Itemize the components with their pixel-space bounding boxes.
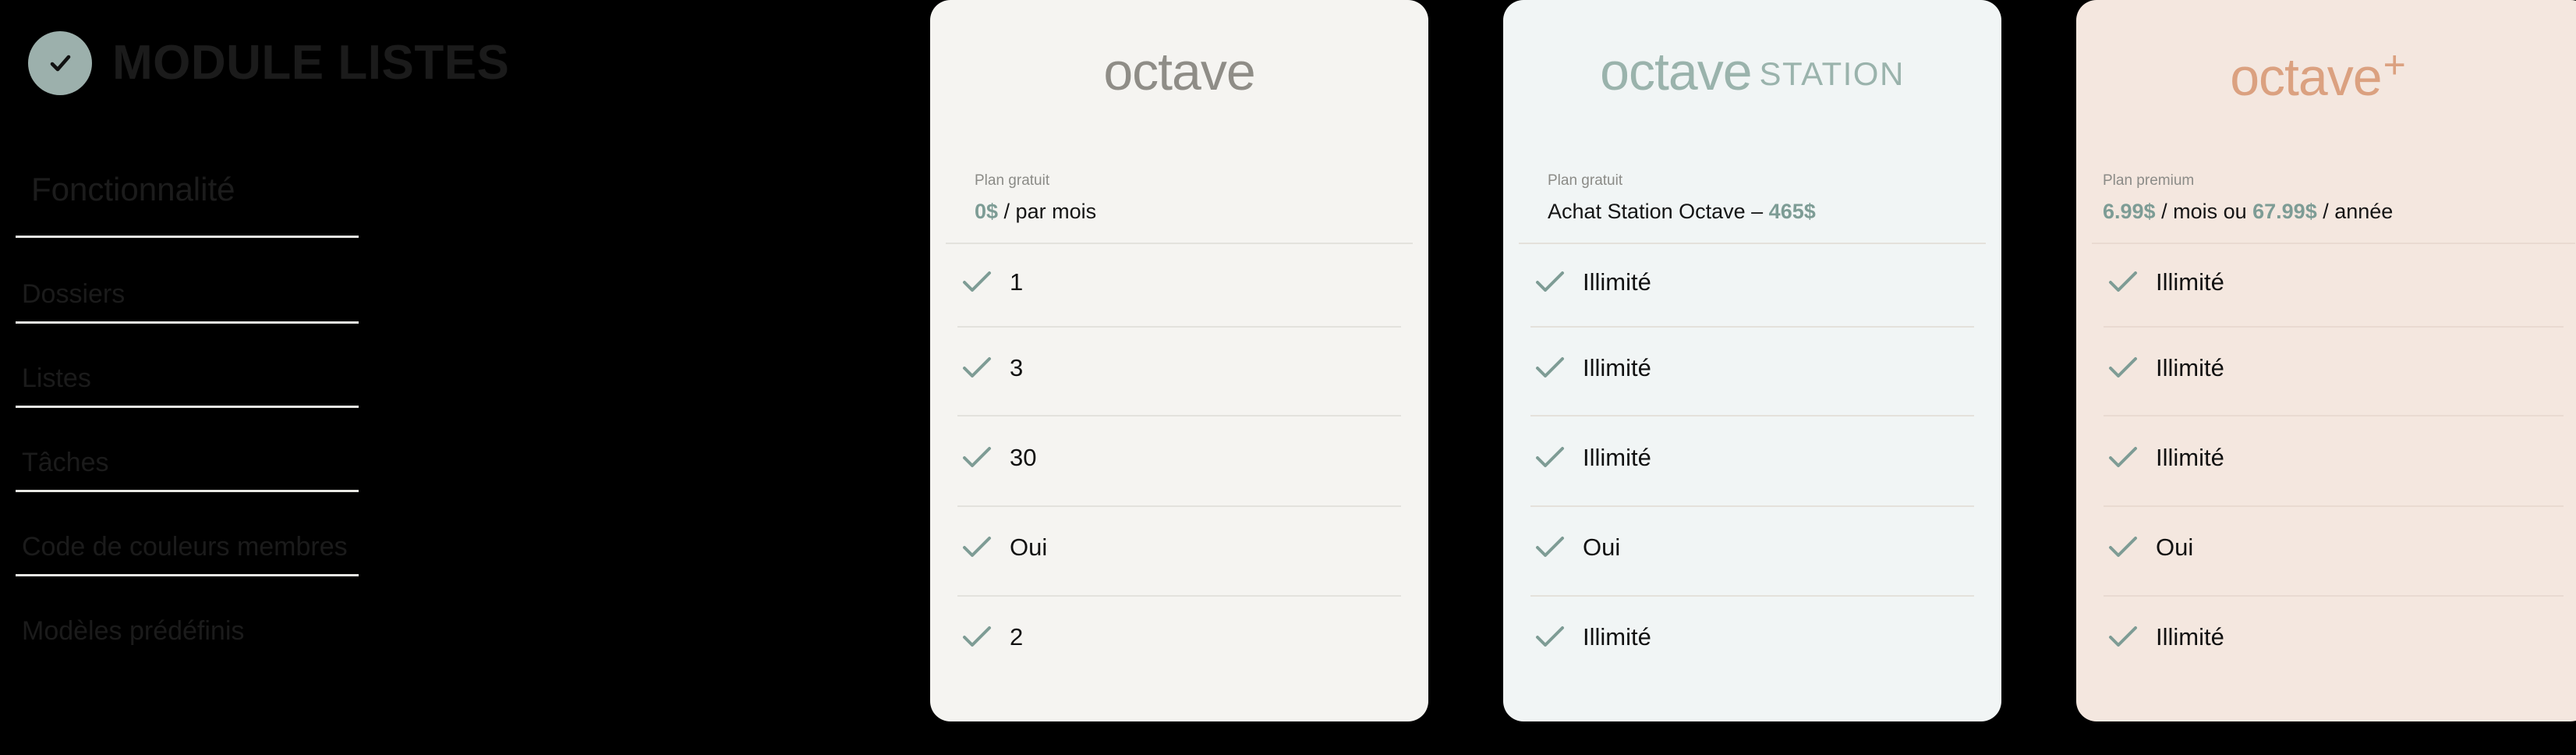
sidebar-divider-0 bbox=[16, 236, 359, 238]
price-amount: 0$ bbox=[975, 200, 998, 223]
card-value-row: Oui bbox=[2107, 534, 2193, 559]
pricing-card-octave-station[interactable]: octaveSTATION Plan gratuit Achat Station… bbox=[1503, 0, 2001, 721]
card-value-row: Illimité bbox=[1534, 269, 1651, 294]
tick-icon bbox=[2107, 534, 2139, 559]
sidebar-feature-taches: Tâches bbox=[22, 449, 109, 476]
card-value-row: Oui bbox=[961, 534, 1047, 559]
card-row-divider bbox=[957, 415, 1401, 416]
card-value-row: 30 bbox=[961, 445, 1036, 470]
tick-icon bbox=[2107, 445, 2139, 470]
sidebar-divider-3 bbox=[16, 490, 359, 492]
price-period: / par mois bbox=[998, 200, 1096, 223]
tick-icon bbox=[1534, 534, 1566, 559]
tick-icon bbox=[2107, 355, 2139, 380]
pricing-card-octave[interactable]: octave Plan gratuit 0$ / par mois 1 3 bbox=[930, 0, 1428, 721]
page-title: MODULE LISTES bbox=[112, 39, 509, 87]
card-value-row: Oui bbox=[1534, 534, 1620, 559]
octave-station-logo: octaveSTATION bbox=[1503, 45, 2001, 98]
tick-icon bbox=[2107, 269, 2139, 294]
card-value-row: 3 bbox=[961, 355, 1023, 380]
plan-label-octave: Plan gratuit bbox=[975, 173, 1049, 188]
tick-icon bbox=[961, 355, 993, 380]
plan-price-octave-station: Achat Station Octave – 465$ bbox=[1548, 201, 1816, 222]
module-header: MODULE LISTES bbox=[28, 31, 509, 95]
card-value-row: Illimité bbox=[2107, 624, 2224, 649]
sidebar-feature-modeles: Modèles prédéfinis bbox=[22, 618, 244, 644]
price-amount-yearly: 67.99$ bbox=[2252, 200, 2317, 223]
tick-icon bbox=[961, 269, 993, 294]
card-value-row: Illimité bbox=[2107, 269, 2224, 294]
card-row-divider bbox=[2104, 595, 2564, 597]
sidebar-divider-1 bbox=[16, 321, 359, 324]
card-row-divider bbox=[1530, 326, 1974, 328]
card-header-divider bbox=[2092, 243, 2575, 244]
check-circle-icon bbox=[28, 31, 92, 95]
card-row-divider bbox=[1530, 415, 1974, 416]
card-row-divider bbox=[957, 326, 1401, 328]
price-amount-monthly: 6.99$ bbox=[2103, 200, 2156, 223]
plan-label-octave-plus: Plan premium bbox=[2103, 173, 2194, 188]
features-sidebar: MODULE LISTES Fonctionnalité Dossiers Li… bbox=[0, 0, 764, 755]
card-row-divider bbox=[1530, 595, 1974, 597]
feature-column-header: Fonctionnalité bbox=[31, 173, 235, 206]
card-row-divider bbox=[957, 505, 1401, 507]
card-header-divider bbox=[946, 243, 1413, 244]
pricing-card-octave-plus[interactable]: octave+ Plan premium 6.99$ / mois ou 67.… bbox=[2076, 0, 2576, 721]
card-row-divider bbox=[2104, 505, 2564, 507]
sidebar-divider-4 bbox=[16, 574, 359, 576]
card-value-row: 1 bbox=[961, 269, 1023, 294]
octave-logo: octave bbox=[930, 45, 1428, 98]
tick-icon bbox=[961, 534, 993, 559]
card-value-row: Illimité bbox=[1534, 355, 1651, 380]
tick-icon bbox=[1534, 624, 1566, 649]
card-row-divider bbox=[1530, 505, 1974, 507]
card-row-divider bbox=[2104, 415, 2564, 416]
comparison-page: MODULE LISTES Fonctionnalité Dossiers Li… bbox=[0, 0, 2576, 755]
card-value-row: Illimité bbox=[2107, 445, 2224, 470]
octave-plus-logo: octave+ bbox=[2076, 45, 2560, 104]
card-row-divider bbox=[957, 595, 1401, 597]
card-row-divider bbox=[2104, 326, 2564, 328]
sidebar-feature-listes: Listes bbox=[22, 365, 91, 392]
card-value-row: Illimité bbox=[1534, 445, 1651, 470]
sidebar-divider-2 bbox=[16, 406, 359, 408]
card-value-row: Illimité bbox=[2107, 355, 2224, 380]
sidebar-feature-dossiers: Dossiers bbox=[22, 281, 125, 307]
plan-label-octave-station: Plan gratuit bbox=[1548, 173, 1622, 188]
price-period-monthly: / mois ou bbox=[2156, 200, 2253, 223]
plan-price-octave-plus: 6.99$ / mois ou 67.99$ / année bbox=[2103, 201, 2393, 222]
tick-icon bbox=[1534, 355, 1566, 380]
tick-icon bbox=[961, 624, 993, 649]
price-description: Achat Station Octave – bbox=[1548, 200, 1769, 223]
card-header-divider bbox=[1519, 243, 1986, 244]
plan-price-octave: 0$ / par mois bbox=[975, 201, 1096, 222]
tick-icon bbox=[1534, 269, 1566, 294]
tick-icon bbox=[2107, 624, 2139, 649]
card-value-row: 2 bbox=[961, 624, 1023, 649]
tick-icon bbox=[1534, 445, 1566, 470]
sidebar-feature-code-couleurs: Code de couleurs membres bbox=[22, 533, 348, 560]
tick-icon bbox=[961, 445, 993, 470]
price-period-yearly: / année bbox=[2317, 200, 2394, 223]
card-value-row: Illimité bbox=[1534, 624, 1651, 649]
price-amount: 465$ bbox=[1769, 200, 1816, 223]
